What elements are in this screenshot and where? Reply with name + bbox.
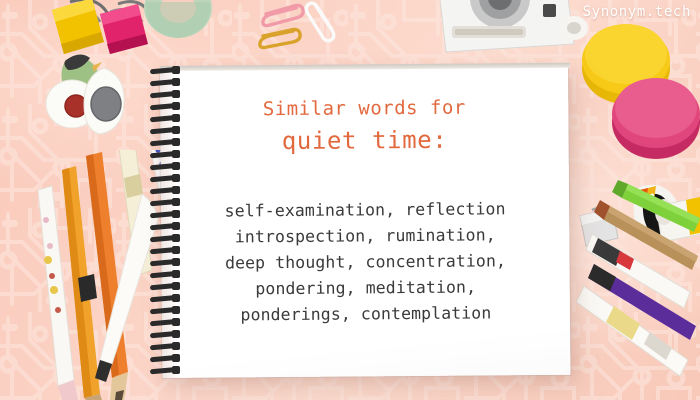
paper-clip-gold bbox=[260, 30, 300, 48]
synonym-line: pondering, meditation, bbox=[225, 275, 506, 303]
camera bbox=[438, 0, 574, 52]
site-watermark: Synonym.tech bbox=[583, 4, 691, 20]
synonym-line: introspection, rumination, bbox=[225, 223, 506, 251]
synonym-line: deep thought, concentration, bbox=[225, 249, 506, 277]
synonym-list: self-examination, reflection introspecti… bbox=[225, 197, 507, 329]
headword: quiet time: bbox=[282, 122, 448, 158]
binder-clip-yellow bbox=[52, 0, 108, 54]
synonym-line: self-examination, reflection bbox=[225, 197, 506, 225]
synonym-line: ponderings, contemplation bbox=[225, 301, 506, 329]
binder-clip-pink bbox=[100, 2, 150, 54]
paper-clip-pink bbox=[263, 6, 303, 26]
card-content: Similar words for quiet time: self-exami… bbox=[160, 67, 570, 378]
title-prefix: Similar words for bbox=[263, 96, 466, 123]
macaron-pink bbox=[612, 78, 700, 159]
washi-tape-roll bbox=[144, 0, 212, 38]
paper-clip-white bbox=[306, 3, 334, 41]
desk-props-right bbox=[560, 20, 700, 400]
desk-props-left-pencils bbox=[0, 150, 170, 400]
